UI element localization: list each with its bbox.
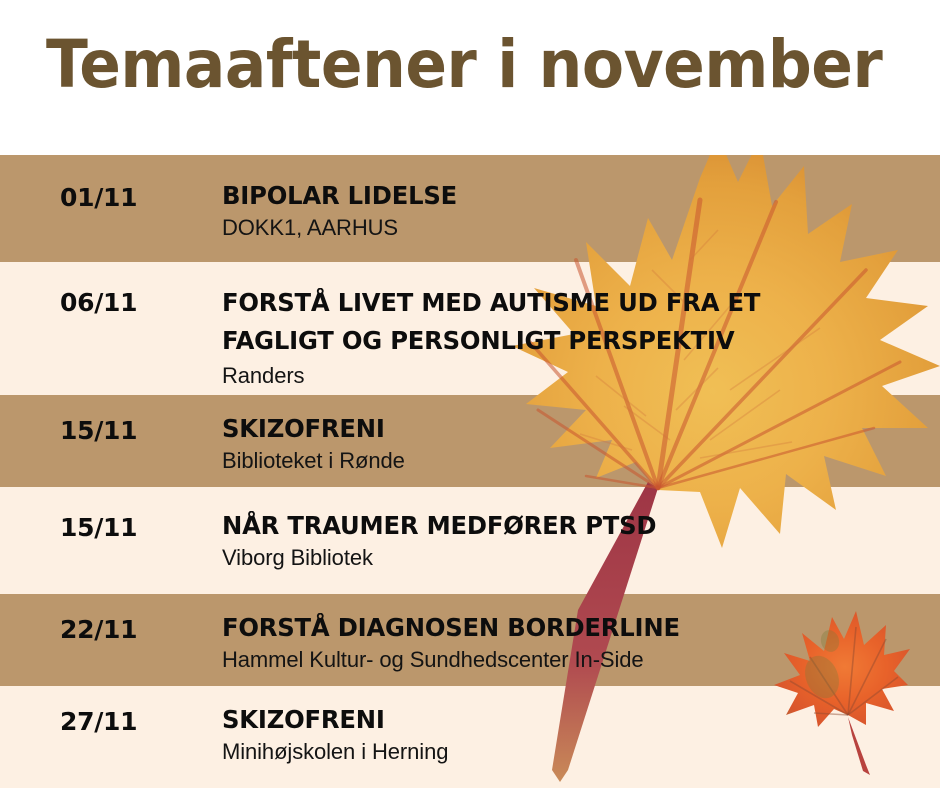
event-date: 06/11 xyxy=(60,288,210,318)
event-body: SKIZOFRENI Biblioteket i Rønde xyxy=(222,413,922,475)
event-row[interactable]: 22/11 FORSTÅ DIAGNOSEN BORDERLINE Hammel… xyxy=(0,594,940,686)
event-title: FORSTÅ LIVET MED AUTISME UD FRA ET FAGLI… xyxy=(222,284,901,360)
event-title: SKIZOFRENI xyxy=(222,413,901,445)
event-venue: Minihøjskolen i Herning xyxy=(222,738,922,766)
event-row[interactable]: 06/11 FORSTÅ LIVET MED AUTISME UD FRA ET… xyxy=(0,262,940,395)
event-title: FORSTÅ DIAGNOSEN BORDERLINE xyxy=(222,612,901,644)
event-title: BIPOLAR LIDELSE xyxy=(222,180,901,212)
event-body: NÅR TRAUMER MEDFØRER PTSD Viborg Bibliot… xyxy=(222,510,922,572)
event-venue: Viborg Bibliotek xyxy=(222,544,922,572)
event-date: 01/11 xyxy=(60,183,210,213)
poster-canvas: Temaaftener i november 01/11 BIPOLAR LID… xyxy=(0,0,940,788)
poster-header: Temaaftener i november xyxy=(0,0,940,155)
event-row[interactable]: 15/11 SKIZOFRENI Biblioteket i Rønde xyxy=(0,395,940,487)
event-venue: Hammel Kultur- og Sundhedscenter In-Side xyxy=(222,646,922,674)
event-venue: Randers xyxy=(222,362,922,390)
event-body: SKIZOFRENI Minihøjskolen i Herning xyxy=(222,704,922,766)
event-body: BIPOLAR LIDELSE DOKK1, AARHUS xyxy=(222,180,922,242)
event-venue: DOKK1, AARHUS xyxy=(222,214,922,242)
event-row[interactable]: 15/11 NÅR TRAUMER MEDFØRER PTSD Viborg B… xyxy=(0,487,940,594)
event-date: 15/11 xyxy=(60,416,210,446)
page-title: Temaaftener i november xyxy=(46,28,882,102)
event-body: FORSTÅ LIVET MED AUTISME UD FRA ET FAGLI… xyxy=(222,284,922,390)
event-date: 22/11 xyxy=(60,615,210,645)
event-date: 27/11 xyxy=(60,707,210,737)
event-row[interactable]: 27/11 SKIZOFRENI Minihøjskolen i Herning xyxy=(0,686,940,788)
event-venue: Biblioteket i Rønde xyxy=(222,447,922,475)
event-date: 15/11 xyxy=(60,513,210,543)
event-body: FORSTÅ DIAGNOSEN BORDERLINE Hammel Kultu… xyxy=(222,612,922,674)
event-row[interactable]: 01/11 BIPOLAR LIDELSE DOKK1, AARHUS xyxy=(0,155,940,262)
event-title: NÅR TRAUMER MEDFØRER PTSD xyxy=(222,510,901,542)
event-title: SKIZOFRENI xyxy=(222,704,901,736)
